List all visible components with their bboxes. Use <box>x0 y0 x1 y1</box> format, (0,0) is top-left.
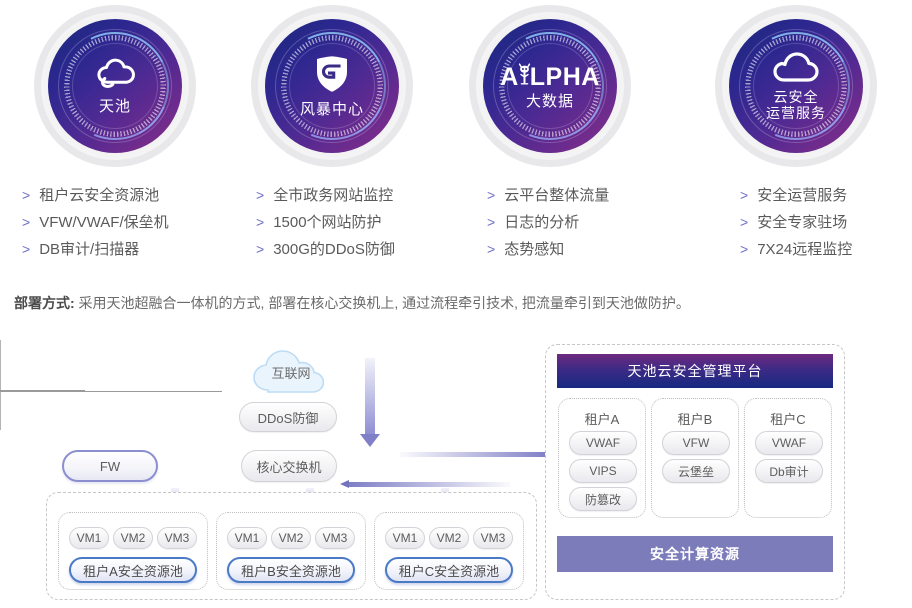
list-item: > 7X24远程监控 <box>740 236 852 263</box>
list-item: > 安全专家驻场 <box>740 209 852 236</box>
service-chip[interactable]: VWAF <box>569 431 637 455</box>
internet-cloud-label: 互联网 <box>271 363 310 382</box>
badge-content: 天池 <box>48 19 182 153</box>
list-item: > 日志的分析 <box>487 209 609 236</box>
alpha-wordmark: A LPHA <box>500 63 600 92</box>
badge-disc: 风暴中心 <box>265 19 399 153</box>
list-item-label: 全市政务网站监控 <box>273 182 393 209</box>
ddos-defense-label: DDoS防御 <box>258 408 319 427</box>
list-item-label: 安全运营服务 <box>757 182 847 209</box>
bullet-lists: > 租户云安全资源池 > VFW/VWAF/保垒机 > DB审计/扫描器 > 全… <box>0 182 912 267</box>
tenant-card-a[interactable]: 租户A VWAF VIPS 防篡改 <box>558 398 646 518</box>
cloud-outline-icon <box>770 51 822 88</box>
vm-label: VM2 <box>121 531 146 545</box>
service-chip[interactable]: 云堡垒 <box>662 459 730 483</box>
bullet-column-cloud-ops: > 安全运营服务 > 安全专家驻场 > 7X24远程监控 <box>740 182 852 263</box>
chevron-right-icon: > <box>256 236 264 263</box>
chevron-right-icon: > <box>487 236 495 263</box>
vm-label: VM3 <box>481 531 506 545</box>
tenant-card-c[interactable]: 租户C VWAF Db审计 <box>744 398 832 518</box>
list-item: > 全市政务网站监控 <box>256 182 395 209</box>
badge-label: 大数据 <box>526 93 574 110</box>
list-item-label: DB审计/扫描器 <box>39 236 139 263</box>
cloud-icon <box>92 58 138 95</box>
chevron-right-icon: > <box>22 209 30 236</box>
bullet-column-tianchi: > 租户云安全资源池 > VFW/VWAF/保垒机 > DB审计/扫描器 <box>22 182 169 263</box>
ddos-defense-node[interactable]: DDoS防御 <box>239 402 337 432</box>
service-label: Db审计 <box>769 463 808 480</box>
resource-group-a[interactable]: VM1 VM2 VM3 租户A安全资源池 <box>58 512 208 590</box>
vm-chip[interactable]: VM3 <box>473 527 513 549</box>
page-root: 天池 风暴中心 <box>0 0 912 608</box>
vm-chip[interactable]: VM2 <box>113 527 153 549</box>
list-item-label: 1500个网站防护 <box>273 209 381 236</box>
badge-label: 风暴中心 <box>300 101 364 118</box>
badge-disc: 云安全 运营服务 <box>729 19 863 153</box>
firewall-node[interactable]: FW <box>62 450 158 482</box>
alpha-letter-a: A <box>500 63 519 92</box>
resource-group-b[interactable]: VM1 VM2 VM3 租户B安全资源池 <box>216 512 366 590</box>
connector-switch-platform <box>0 391 222 392</box>
badge-content: 云安全 运营服务 <box>729 19 863 153</box>
chevron-right-icon: > <box>740 182 748 209</box>
tenant-card-b[interactable]: 租户B VFW 云堡垒 <box>651 398 739 518</box>
list-item-label: 300G的DDoS防御 <box>273 236 395 263</box>
list-item: > 1500个网站防护 <box>256 209 395 236</box>
traffic-to-platform-arrow-body <box>400 450 558 459</box>
list-item-label: 7X24远程监控 <box>757 236 852 263</box>
vm-chip[interactable]: VM2 <box>271 527 311 549</box>
badge-label: 天池 <box>99 98 131 115</box>
list-item-label: 日志的分析 <box>504 209 579 236</box>
chevron-right-icon: > <box>22 182 30 209</box>
architecture-diagram: 互联网 DDoS防御 核心交换机 FW <box>0 340 912 608</box>
service-label: 云堡垒 <box>678 463 714 480</box>
vm-chip[interactable]: VM1 <box>69 527 109 549</box>
service-label: VWAF <box>586 436 620 450</box>
resource-pool-label: 租户A安全资源池 <box>83 561 183 580</box>
resource-pool-label: 租户B安全资源池 <box>241 561 341 580</box>
list-item-label: 云平台整体流量 <box>504 182 609 209</box>
service-chip[interactable]: VWAF <box>755 431 823 455</box>
list-item-label: 安全专家驻场 <box>757 209 847 236</box>
badge-tianchi[interactable]: 天池 <box>41 12 189 160</box>
badge-storm-center[interactable]: 风暴中心 <box>258 12 406 160</box>
platform-header-bar[interactable]: 天池云安全管理平台 <box>557 354 833 388</box>
vm-chip[interactable]: VM1 <box>227 527 267 549</box>
connector-switch-pools <box>0 392 1 430</box>
connector-cloud-ddos <box>0 340 1 364</box>
vm-label: VM2 <box>437 531 462 545</box>
resource-pool-chip[interactable]: 租户A安全资源池 <box>69 557 197 583</box>
badge-cloud-security-ops[interactable]: 云安全 运营服务 <box>722 12 870 160</box>
list-item: > 云平台整体流量 <box>487 182 609 209</box>
chevron-right-icon: > <box>487 209 495 236</box>
internet-cloud-node[interactable]: 互联网 <box>246 346 336 402</box>
alpha-letters-lpha: LPHA <box>530 63 600 92</box>
list-item: > DB审计/扫描器 <box>22 236 169 263</box>
deployment-note-text: 采用天池超融合一体机的方式, 部署在核心交换机上, 通过流程牵引技术, 把流量牵… <box>75 295 690 311</box>
chevron-right-icon: > <box>256 209 264 236</box>
service-chip[interactable]: VIPS <box>569 459 637 483</box>
tenant-title: 租户C <box>745 409 831 428</box>
vm-label: VM1 <box>393 531 418 545</box>
vm-chip[interactable]: VM3 <box>157 527 197 549</box>
chevron-right-icon: > <box>740 209 748 236</box>
badge-label-line2: 运营服务 <box>766 105 826 121</box>
core-switch-label: 核心交换机 <box>256 457 321 476</box>
resource-pool-label: 租户C安全资源池 <box>399 561 499 580</box>
service-chip[interactable]: VFW <box>662 431 730 455</box>
bullet-column-storm-center: > 全市政务网站监控 > 1500个网站防护 > 300G的DDoS防御 <box>256 182 395 263</box>
badge-content: A LPHA <box>483 19 617 153</box>
list-item: > 租户云安全资源池 <box>22 182 169 209</box>
platform-header-label: 天池云安全管理平台 <box>628 361 763 381</box>
service-label: VFW <box>683 436 710 450</box>
service-label: VWAF <box>772 436 806 450</box>
traffic-down-arrow <box>360 358 380 446</box>
badge-disc: 天池 <box>48 19 182 153</box>
firewall-label: FW <box>100 459 120 474</box>
traffic-from-platform-arrow <box>340 480 510 489</box>
list-item: > 态势感知 <box>487 236 609 263</box>
vm-label: VM1 <box>235 531 260 545</box>
deployment-note: 部署方式: 采用天池超融合一体机的方式, 部署在核心交换机上, 通过流程牵引技术… <box>14 293 690 313</box>
vm-label: VM1 <box>77 531 102 545</box>
chevron-right-icon: > <box>487 182 495 209</box>
deployment-note-label: 部署方式: <box>14 295 75 311</box>
tenant-title: 租户A <box>559 409 645 428</box>
vm-label: VM2 <box>279 531 304 545</box>
vm-chip[interactable]: VM1 <box>385 527 425 549</box>
tenant-title: 租户B <box>652 409 738 428</box>
list-item: > VFW/VWAF/保垒机 <box>22 209 169 236</box>
badge-content: 风暴中心 <box>265 19 399 153</box>
core-switch-node[interactable]: 核心交换机 <box>241 450 337 482</box>
chevron-right-icon: > <box>22 236 30 263</box>
vm-label: VM3 <box>323 531 348 545</box>
connector-ddos-switch <box>0 364 1 390</box>
badge-disc: A LPHA <box>483 19 617 153</box>
chevron-right-icon: > <box>740 236 748 263</box>
list-item: > 300G的DDoS防御 <box>256 236 395 263</box>
badge-alpha-bigdata[interactable]: A LPHA <box>476 12 624 160</box>
vm-chip[interactable]: VM3 <box>315 527 355 549</box>
badge-row: 天池 风暴中心 <box>0 0 912 170</box>
resource-pool-chip[interactable]: 租户B安全资源池 <box>227 557 355 583</box>
compute-resources-bar[interactable]: 安全计算资源 <box>557 536 833 572</box>
chevron-right-icon: > <box>256 182 264 209</box>
vm-label: VM3 <box>165 531 190 545</box>
resource-pool-chip[interactable]: 租户C安全资源池 <box>385 557 513 583</box>
list-item: > 安全运营服务 <box>740 182 852 209</box>
service-chip[interactable]: 防篡改 <box>569 487 637 511</box>
list-item-label: 态势感知 <box>504 236 564 263</box>
bullet-column-alpha: > 云平台整体流量 > 日志的分析 > 态势感知 <box>487 182 609 263</box>
list-item-label: VFW/VWAF/保垒机 <box>39 209 168 236</box>
service-chip[interactable]: Db审计 <box>755 459 823 483</box>
service-label: VIPS <box>589 464 616 478</box>
list-item-label: 租户云安全资源池 <box>39 182 159 209</box>
resource-group-c[interactable]: VM1 VM2 VM3 租户C安全资源池 <box>374 512 524 590</box>
shield-icon <box>314 55 350 98</box>
service-label: 防篡改 <box>585 491 621 508</box>
compute-resources-label: 安全计算资源 <box>650 544 740 564</box>
vm-chip[interactable]: VM2 <box>429 527 469 549</box>
badge-label-line1: 云安全 <box>774 89 819 105</box>
